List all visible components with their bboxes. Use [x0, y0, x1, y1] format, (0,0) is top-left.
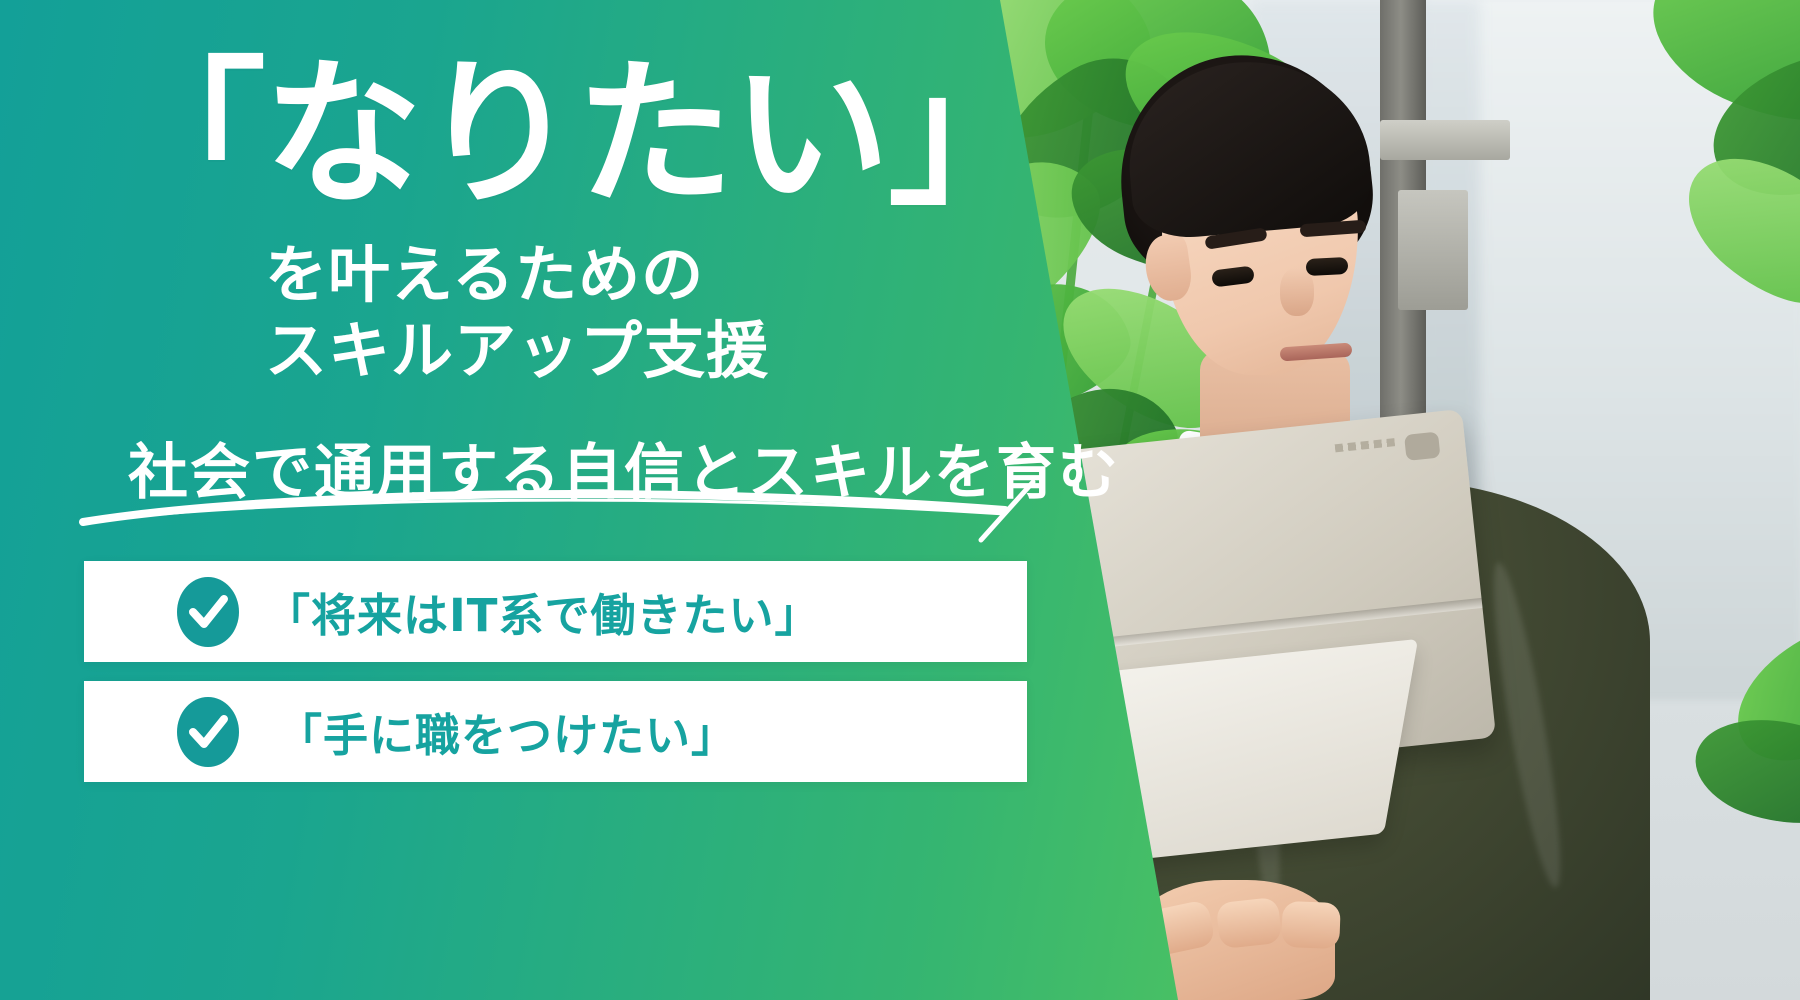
page-title: 「なりたい」 — [108, 56, 1044, 214]
check-circle-icon — [177, 577, 239, 647]
subtitle-line-2: スキルアップ支援 — [265, 316, 769, 385]
banner-content: 「なりたい」 を叶えるための スキルアップ支援 社会で通用する自信とスキルを育む… — [0, 0, 1060, 1000]
feature-card-2[interactable]: 「手に職をつけたい」 — [84, 681, 1027, 782]
check-circle-icon — [177, 697, 239, 767]
brush-underline — [75, 470, 1065, 550]
feature-card-1-label: 「将来はIT系で働きたい」 — [265, 579, 820, 644]
subtitle-line-1: を叶えるための — [265, 240, 704, 309]
feature-card-1[interactable]: 「将来はIT系で働きたい」 — [84, 561, 1027, 662]
feature-card-2-label: 「手に職をつけたい」 — [277, 699, 737, 764]
hero-banner: 「なりたい」 を叶えるための スキルアップ支援 社会で通用する自信とスキルを育む… — [0, 0, 1800, 1000]
